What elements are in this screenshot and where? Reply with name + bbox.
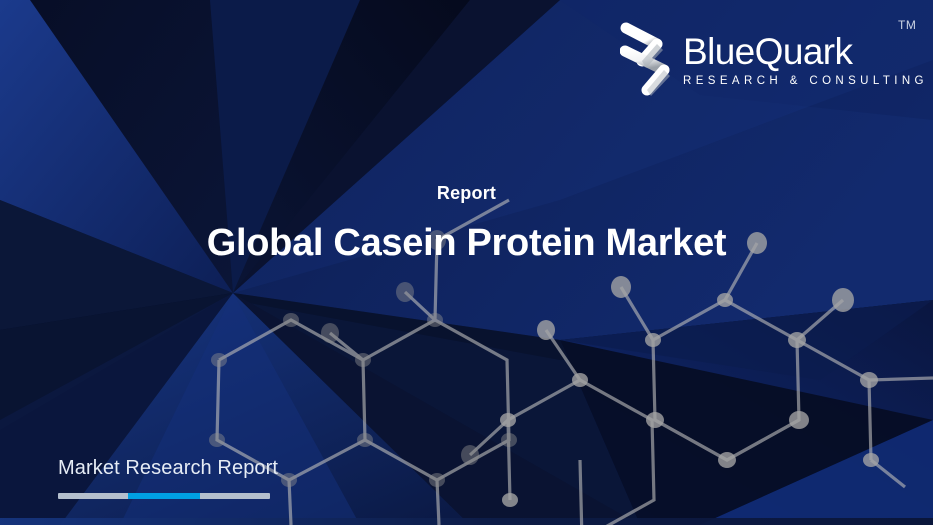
brand-wordmark: BlueQuark RESEARCH & CONSULTING	[683, 32, 913, 89]
brand-name: BlueQuark	[683, 32, 913, 72]
accent-bar-segment-1	[58, 493, 128, 499]
report-cover-page: BlueQuark RESEARCH & CONSULTING TM Repor…	[0, 0, 933, 525]
bluequark-chevron-logo-icon	[620, 18, 682, 102]
accent-bar	[58, 493, 270, 499]
trademark-symbol: TM	[898, 18, 916, 32]
report-kicker-label: Report	[0, 182, 933, 204]
title-group: Report Global Casein Protein Market	[0, 182, 933, 266]
brand-name-part-1: Blue	[683, 31, 755, 72]
brand-logo: BlueQuark RESEARCH & CONSULTING TM	[615, 10, 915, 110]
page-title: Global Casein Protein Market	[0, 220, 933, 266]
brand-name-part-2: Quark	[755, 31, 853, 72]
brand-tagline: RESEARCH & CONSULTING	[683, 73, 913, 89]
footer-block: Market Research Report	[58, 455, 378, 499]
footer-subtitle: Market Research Report	[58, 455, 378, 481]
accent-bar-segment-2	[128, 493, 200, 499]
accent-bar-segment-3	[200, 493, 270, 499]
